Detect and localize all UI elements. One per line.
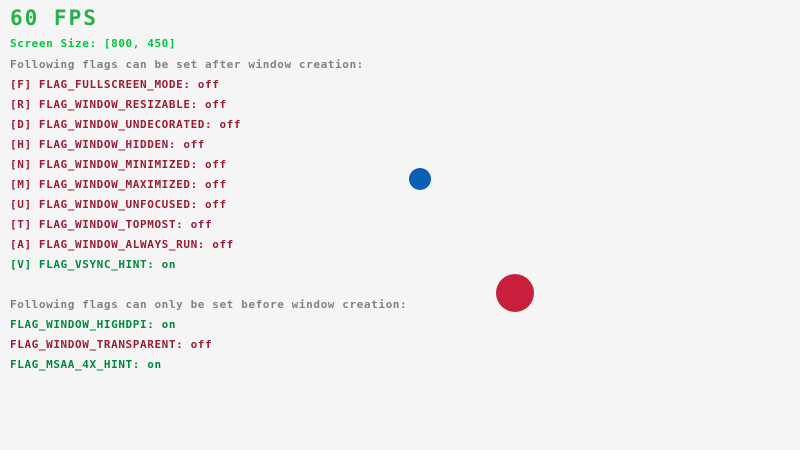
flag-row-flag-window-topmost[interactable]: [T] FLAG_WINDOW_TOPMOST: off	[10, 219, 212, 230]
flag-row-flag-window-highdpi[interactable]: FLAG_WINDOW_HIGHDPI: on	[10, 319, 176, 330]
flag-row-flag-window-resizable[interactable]: [R] FLAG_WINDOW_RESIZABLE: off	[10, 99, 227, 110]
screen-size-label: Screen Size: [800, 450]	[10, 38, 176, 49]
flag-row-flag-window-hidden[interactable]: [H] FLAG_WINDOW_HIDDEN: off	[10, 139, 205, 150]
section-header-after-creation: Following flags can be set after window …	[10, 59, 364, 70]
section-header-before-creation: Following flags can only be set before w…	[10, 299, 407, 310]
flag-row-flag-vsync-hint[interactable]: [V] FLAG_VSYNC_HINT: on	[10, 259, 176, 270]
red-ball-shape	[496, 274, 534, 312]
flag-row-flag-fullscreen-mode[interactable]: [F] FLAG_FULLSCREEN_MODE: off	[10, 79, 219, 90]
raylib-window-canvas[interactable]: 60 FPS Screen Size: [800, 450] Following…	[0, 0, 800, 450]
flag-row-flag-window-undecorated[interactable]: [D] FLAG_WINDOW_UNDECORATED: off	[10, 119, 241, 130]
flag-row-flag-window-unfocused[interactable]: [U] FLAG_WINDOW_UNFOCUSED: off	[10, 199, 227, 210]
fps-counter: 60 FPS	[10, 8, 98, 29]
flag-row-flag-window-transparent[interactable]: FLAG_WINDOW_TRANSPARENT: off	[10, 339, 212, 350]
blue-ball-shape	[409, 168, 431, 190]
flag-row-flag-window-minimized[interactable]: [N] FLAG_WINDOW_MINIMIZED: off	[10, 159, 227, 170]
flag-row-flag-window-maximized[interactable]: [M] FLAG_WINDOW_MAXIMIZED: off	[10, 179, 227, 190]
flag-row-flag-msaa-4x-hint[interactable]: FLAG_MSAA_4X_HINT: on	[10, 359, 162, 370]
flag-row-flag-window-always-run[interactable]: [A] FLAG_WINDOW_ALWAYS_RUN: off	[10, 239, 234, 250]
